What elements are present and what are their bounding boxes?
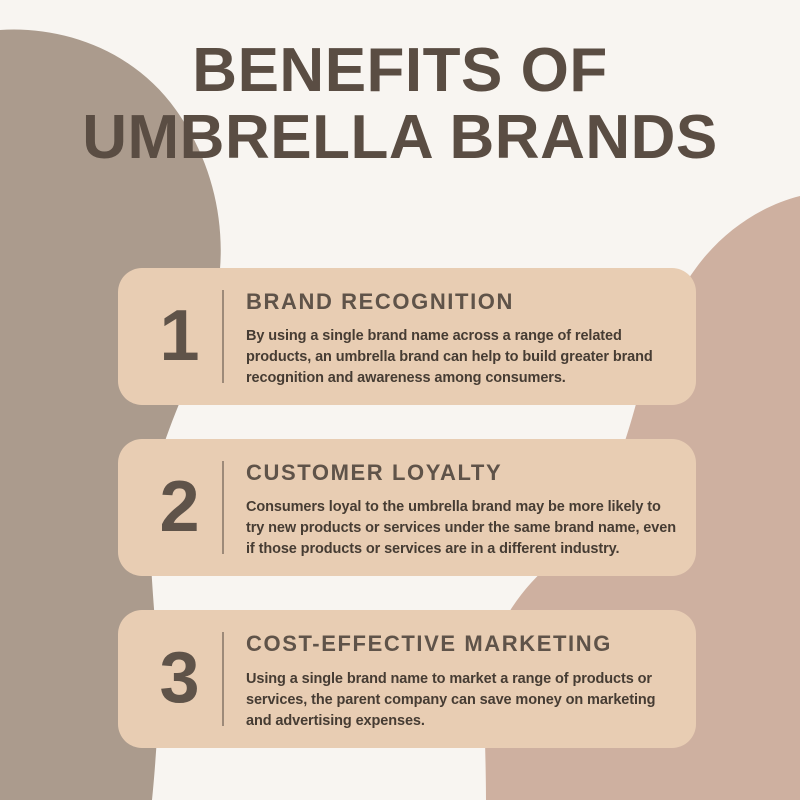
- benefit-content-1: BRAND RECOGNITION By using a single bran…: [224, 282, 678, 389]
- benefit-heading-2: CUSTOMER LOYALTY: [246, 461, 678, 485]
- benefit-heading-1: BRAND RECOGNITION: [246, 290, 678, 314]
- card-divider-3: [222, 632, 224, 725]
- benefit-text-1: By using a single brand name across a ra…: [246, 326, 678, 389]
- card-divider-1: [222, 290, 224, 383]
- benefit-content-3: COST-EFFECTIVE MARKETING Using a single …: [224, 624, 678, 731]
- page-title: BENEFITS OF UMBRELLA BRANDS: [0, 38, 800, 172]
- benefit-heading-3: COST-EFFECTIVE MARKETING: [246, 632, 678, 656]
- benefit-text-2: Consumers loyal to the umbrella brand ma…: [246, 497, 678, 560]
- benefit-text-3: Using a single brand name to market a ra…: [246, 669, 678, 732]
- infographic-poster: BENEFITS OF UMBRELLA BRANDS 1 BRAND RECO…: [0, 0, 800, 800]
- card-divider-2: [222, 461, 224, 554]
- benefit-number-3: 3: [136, 624, 222, 731]
- benefit-card-2[interactable]: 2 CUSTOMER LOYALTY Consumers loyal to th…: [118, 439, 696, 576]
- benefit-content-2: CUSTOMER LOYALTY Consumers loyal to the …: [224, 453, 678, 560]
- benefit-card-3[interactable]: 3 COST-EFFECTIVE MARKETING Using a singl…: [118, 610, 696, 747]
- title-line-1: BENEFITS OF: [0, 38, 800, 105]
- benefit-card-1[interactable]: 1 BRAND RECOGNITION By using a single br…: [118, 268, 696, 405]
- title-line-2: UMBRELLA BRANDS: [0, 105, 800, 172]
- benefit-number-1: 1: [136, 282, 222, 389]
- benefit-number-2: 2: [136, 453, 222, 560]
- benefits-list: 1 BRAND RECOGNITION By using a single br…: [118, 268, 696, 748]
